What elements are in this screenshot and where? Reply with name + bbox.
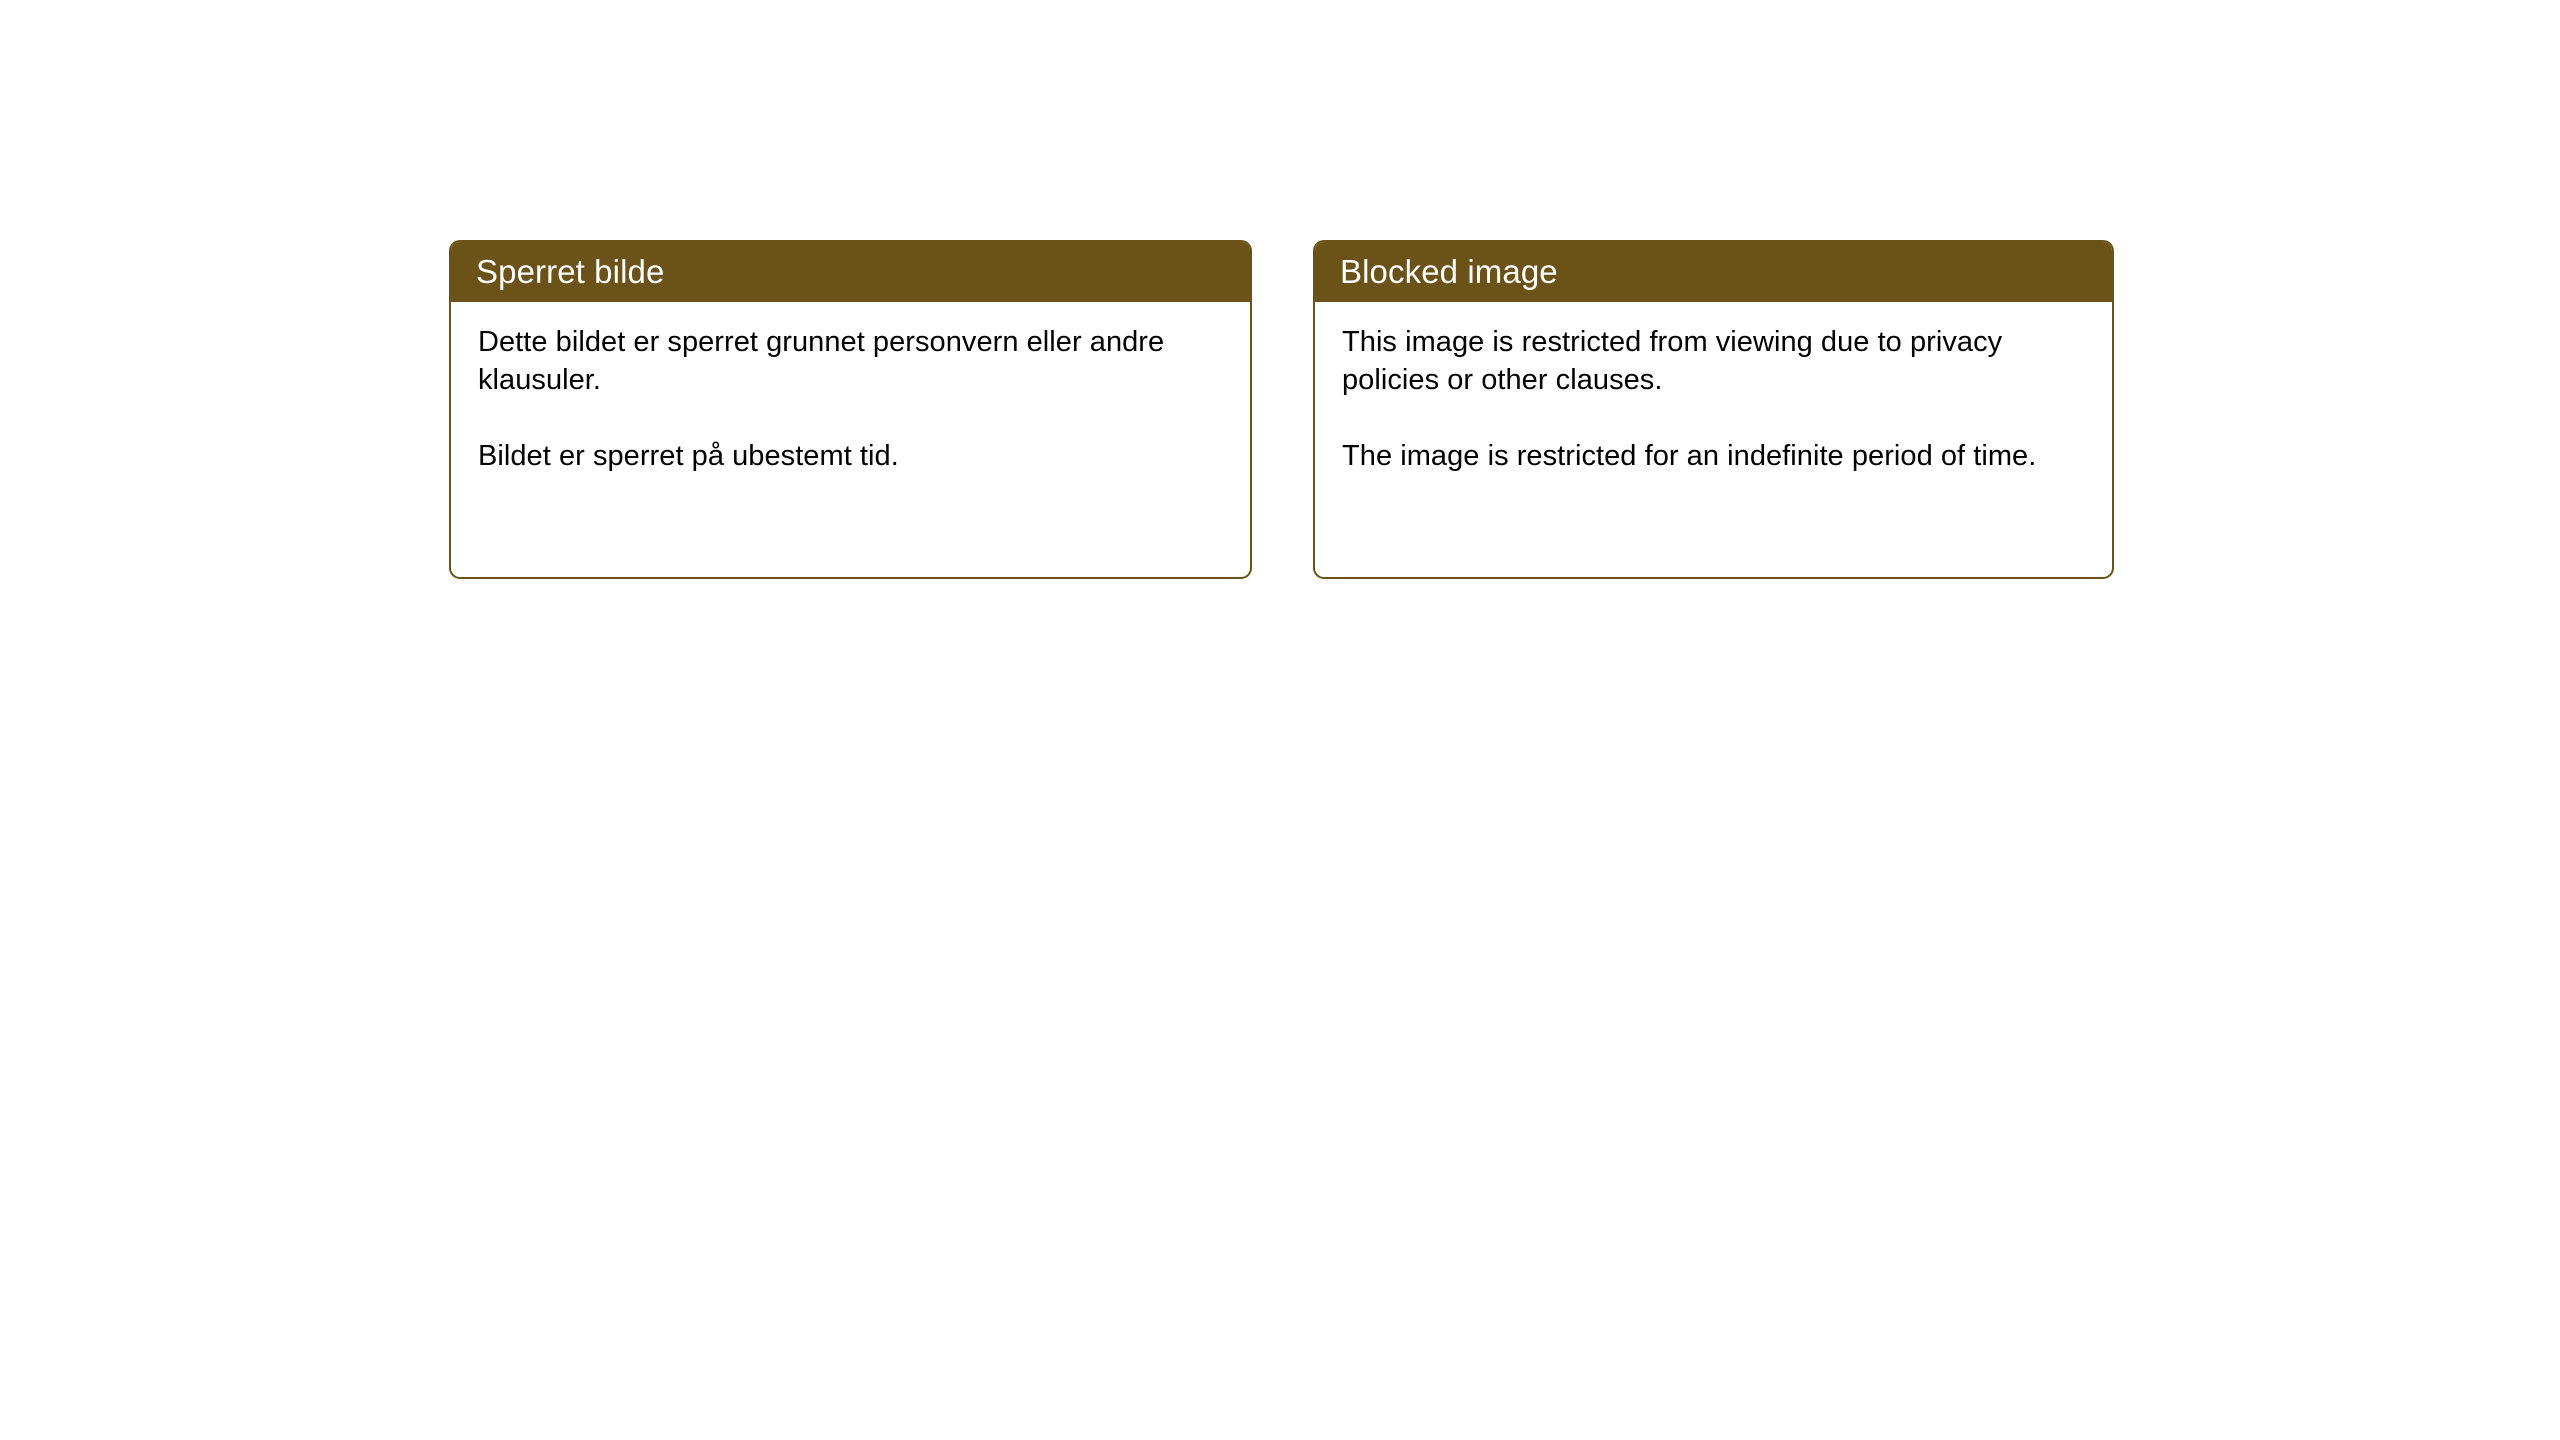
- card-paragraph-primary-norwegian: Dette bildet er sperret grunnet personve…: [478, 323, 1224, 399]
- card-title-norwegian: Sperret bilde: [476, 253, 664, 291]
- card-body-english: This image is restricted from viewing du…: [1315, 302, 2112, 475]
- paragraph-spacer: [1342, 399, 2086, 437]
- card-paragraph-secondary-norwegian: Bildet er sperret på ubestemt tid.: [478, 437, 1224, 475]
- card-paragraph-primary-english: This image is restricted from viewing du…: [1342, 323, 2086, 399]
- card-header-english: Blocked image: [1314, 241, 2113, 302]
- card-body-norwegian: Dette bildet er sperret grunnet personve…: [451, 302, 1250, 475]
- blocked-image-notice-area: Sperret bilde Dette bildet er sperret gr…: [0, 0, 2560, 1440]
- blocked-image-card-english: Blocked image This image is restricted f…: [1313, 240, 2114, 579]
- paragraph-spacer: [478, 399, 1224, 437]
- card-title-english: Blocked image: [1340, 253, 1558, 291]
- card-paragraph-secondary-english: The image is restricted for an indefinit…: [1342, 437, 2086, 475]
- card-header-norwegian: Sperret bilde: [450, 241, 1251, 302]
- blocked-image-card-norwegian: Sperret bilde Dette bildet er sperret gr…: [449, 240, 1252, 579]
